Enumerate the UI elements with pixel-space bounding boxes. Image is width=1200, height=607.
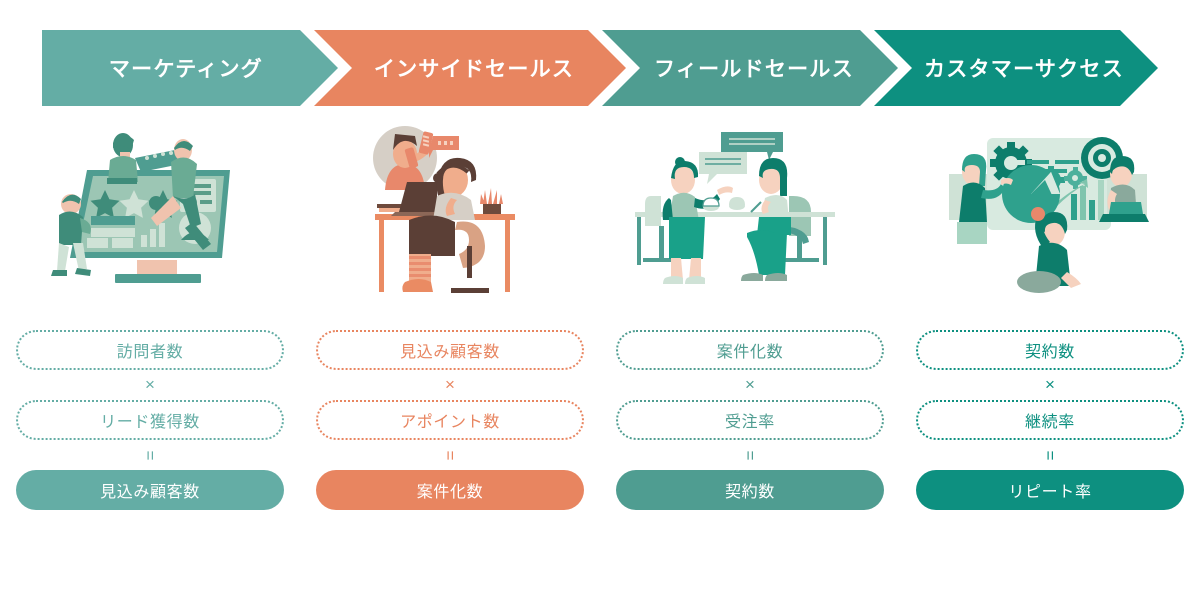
funnel-column-customer-success: 契約数 × 継続率 = リピート率 (900, 118, 1200, 510)
operator-equals: = (445, 440, 455, 470)
stage-label-field-sales: フィールドセールス (618, 30, 890, 106)
kpi-factor-2-chip[interactable]: アポイント数 (316, 400, 584, 440)
kpi-result-chip[interactable]: 見込み顧客数 (16, 470, 284, 510)
kpi-result-chip[interactable]: 契約数 (616, 470, 884, 510)
operator-multiply: × (145, 370, 155, 400)
operator-multiply: × (745, 370, 755, 400)
kpi-factor-2-chip[interactable]: 受注率 (616, 400, 884, 440)
operator-equals: = (145, 440, 155, 470)
kpi-formula-customer-success: 契約数 × 継続率 = リピート率 (916, 330, 1184, 510)
operator-multiply: × (445, 370, 455, 400)
kpi-factor-1-chip[interactable]: 契約数 (916, 330, 1184, 370)
funnel-columns: 訪問者数 × リード獲得数 = 見込み顧客数 (0, 118, 1200, 510)
funnel-column-inside-sales: 見込み顧客数 × アポイント数 = 案件化数 (300, 118, 600, 510)
operator-equals: = (1045, 440, 1055, 470)
operator-multiply: × (1045, 370, 1055, 400)
funnel-column-field-sales: 案件化数 × 受注率 = 契約数 (600, 118, 900, 510)
stage-arrow-label-row: マーケティング インサイドセールス フィールドセールス カスタマーサクセス (42, 30, 1158, 106)
stage-arrow-banner: マーケティング インサイドセールス フィールドセールス カスタマーサクセス (42, 30, 1158, 106)
kpi-formula-marketing: 訪問者数 × リード獲得数 = 見込み顧客数 (16, 330, 284, 510)
kpi-factor-1-chip[interactable]: 案件化数 (616, 330, 884, 370)
kpi-formula-field-sales: 案件化数 × 受注率 = 契約数 (616, 330, 884, 510)
marketing-monitor-illustration (25, 118, 275, 298)
stage-label-marketing: マーケティング (42, 30, 330, 106)
kpi-factor-2-chip[interactable]: 継続率 (916, 400, 1184, 440)
kpi-formula-inside-sales: 見込み顧客数 × アポイント数 = 案件化数 (316, 330, 584, 510)
kpi-factor-2-chip[interactable]: リード獲得数 (16, 400, 284, 440)
customer-success-dashboard-illustration (925, 118, 1175, 298)
inside-sales-desk-call-illustration (325, 118, 575, 298)
field-sales-meeting-illustration (625, 118, 875, 298)
kpi-result-chip[interactable]: リピート率 (916, 470, 1184, 510)
operator-equals: = (745, 440, 755, 470)
kpi-result-chip[interactable]: 案件化数 (316, 470, 584, 510)
funnel-column-marketing: 訪問者数 × リード獲得数 = 見込み顧客数 (0, 118, 300, 510)
kpi-factor-1-chip[interactable]: 見込み顧客数 (316, 330, 584, 370)
stage-label-customer-success: カスタマーサクセス (890, 30, 1158, 106)
stage-label-inside-sales: インサイドセールス (330, 30, 618, 106)
kpi-factor-1-chip[interactable]: 訪問者数 (16, 330, 284, 370)
